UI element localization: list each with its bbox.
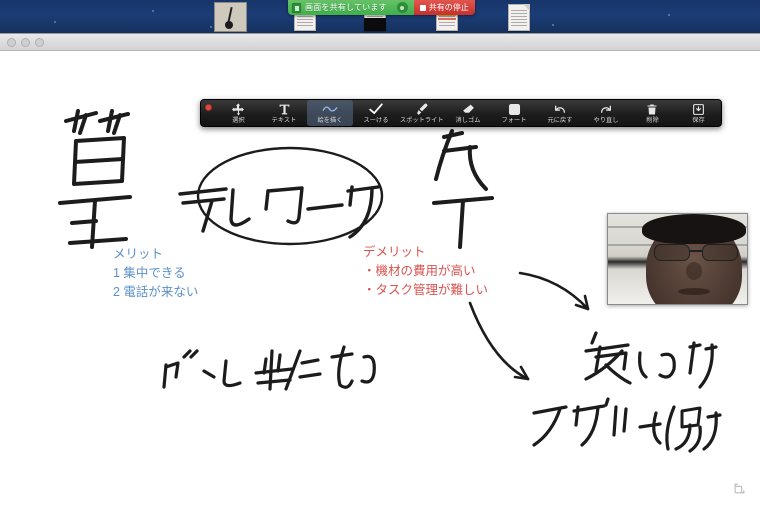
share-status-group: 画面を共有しています xyxy=(288,0,414,15)
screen-share-session: 画面を共有しています 共有の停止 xyxy=(0,0,760,507)
annotation-toolbar[interactable]: 選択 テキスト 絵を描く xyxy=(200,99,722,127)
tool-select[interactable]: 選択 xyxy=(215,100,261,126)
window-traffic-lights[interactable] xyxy=(7,38,44,47)
demerit-item-2: ・タスク管理が難しい xyxy=(363,282,488,299)
screen-share-icon xyxy=(292,3,301,13)
gear-icon[interactable] xyxy=(397,2,408,13)
demerit-heading: デメリット xyxy=(363,244,426,261)
merit-heading: メリット xyxy=(113,246,163,263)
close-button[interactable] xyxy=(7,38,16,47)
tool-format[interactable]: フォート xyxy=(491,100,537,126)
checkmark-stamp-icon xyxy=(369,102,383,116)
tool-select-label: 選択 xyxy=(232,116,244,125)
spotlight-pointer-icon xyxy=(416,102,429,116)
stop-sharing-button[interactable]: 共有の停止 xyxy=(414,0,475,15)
redo-icon xyxy=(599,102,613,116)
tool-eraser[interactable]: 消しゴム xyxy=(445,100,491,126)
tool-redo[interactable]: やり直し xyxy=(583,100,629,126)
tool-save[interactable]: 保存 xyxy=(675,100,721,126)
demerit-item-1: ・機材の費用が高い xyxy=(363,263,476,280)
webcam-self-view[interactable] xyxy=(607,213,748,305)
screen-share-banner: 画面を共有しています 共有の停止 xyxy=(288,0,475,15)
tool-stamp-label: スーける xyxy=(364,116,389,125)
tool-format-label: フォート xyxy=(502,116,527,125)
draw-squiggle-icon xyxy=(322,102,338,116)
text-icon xyxy=(278,102,291,116)
share-status-text: 画面を共有しています xyxy=(305,2,387,13)
minimize-button[interactable] xyxy=(21,38,30,47)
shared-window: メリット 1 集中できる 2 電話が来ない デメリット ・機材の費用が高い ・タ… xyxy=(0,33,760,507)
webcam-glasses xyxy=(654,244,742,261)
whiteboard-canvas[interactable]: メリット 1 集中できる 2 電話が来ない デメリット ・機材の費用が高い ・タ… xyxy=(0,51,760,507)
toolbar-close-icon[interactable] xyxy=(205,104,212,111)
merit-item-1: 1 集中できる xyxy=(113,265,186,282)
tool-delete[interactable]: 削除 xyxy=(629,100,675,126)
tool-draw[interactable]: 絵を描く xyxy=(307,100,353,126)
tool-spotlight-label: スポットライト xyxy=(400,116,444,125)
file-icon-4[interactable] xyxy=(502,2,536,33)
save-icon xyxy=(692,102,705,116)
stop-square-icon xyxy=(420,5,426,11)
app-icon-pen[interactable] xyxy=(214,2,247,32)
merit-item-2: 2 電話が来ない xyxy=(113,284,198,301)
tool-save-label: 保存 xyxy=(692,116,704,125)
tool-undo-label: 元に戻す xyxy=(548,116,573,125)
tool-undo[interactable]: 元に戻す xyxy=(537,100,583,126)
tool-redo-label: やり直し xyxy=(594,116,619,125)
window-titlebar xyxy=(0,34,760,51)
tool-stamp[interactable]: スーける xyxy=(353,100,399,126)
tool-delete-label: 削除 xyxy=(646,116,658,125)
undo-icon xyxy=(553,102,567,116)
format-square-icon xyxy=(508,102,521,116)
move-select-icon xyxy=(232,102,245,116)
tool-text[interactable]: テキスト xyxy=(261,100,307,126)
tool-text-label: テキスト xyxy=(272,116,297,125)
tool-spotlight[interactable]: スポットライト xyxy=(399,100,445,126)
trash-icon xyxy=(646,102,658,116)
zoom-button[interactable] xyxy=(35,38,44,47)
tool-eraser-label: 消しゴム xyxy=(456,116,481,125)
stop-sharing-label: 共有の停止 xyxy=(429,2,469,13)
eraser-icon xyxy=(462,102,475,116)
expand-resize-icon[interactable] xyxy=(733,482,746,495)
tool-draw-label: 絵を描く xyxy=(318,116,343,125)
webcam-hair xyxy=(642,214,746,244)
